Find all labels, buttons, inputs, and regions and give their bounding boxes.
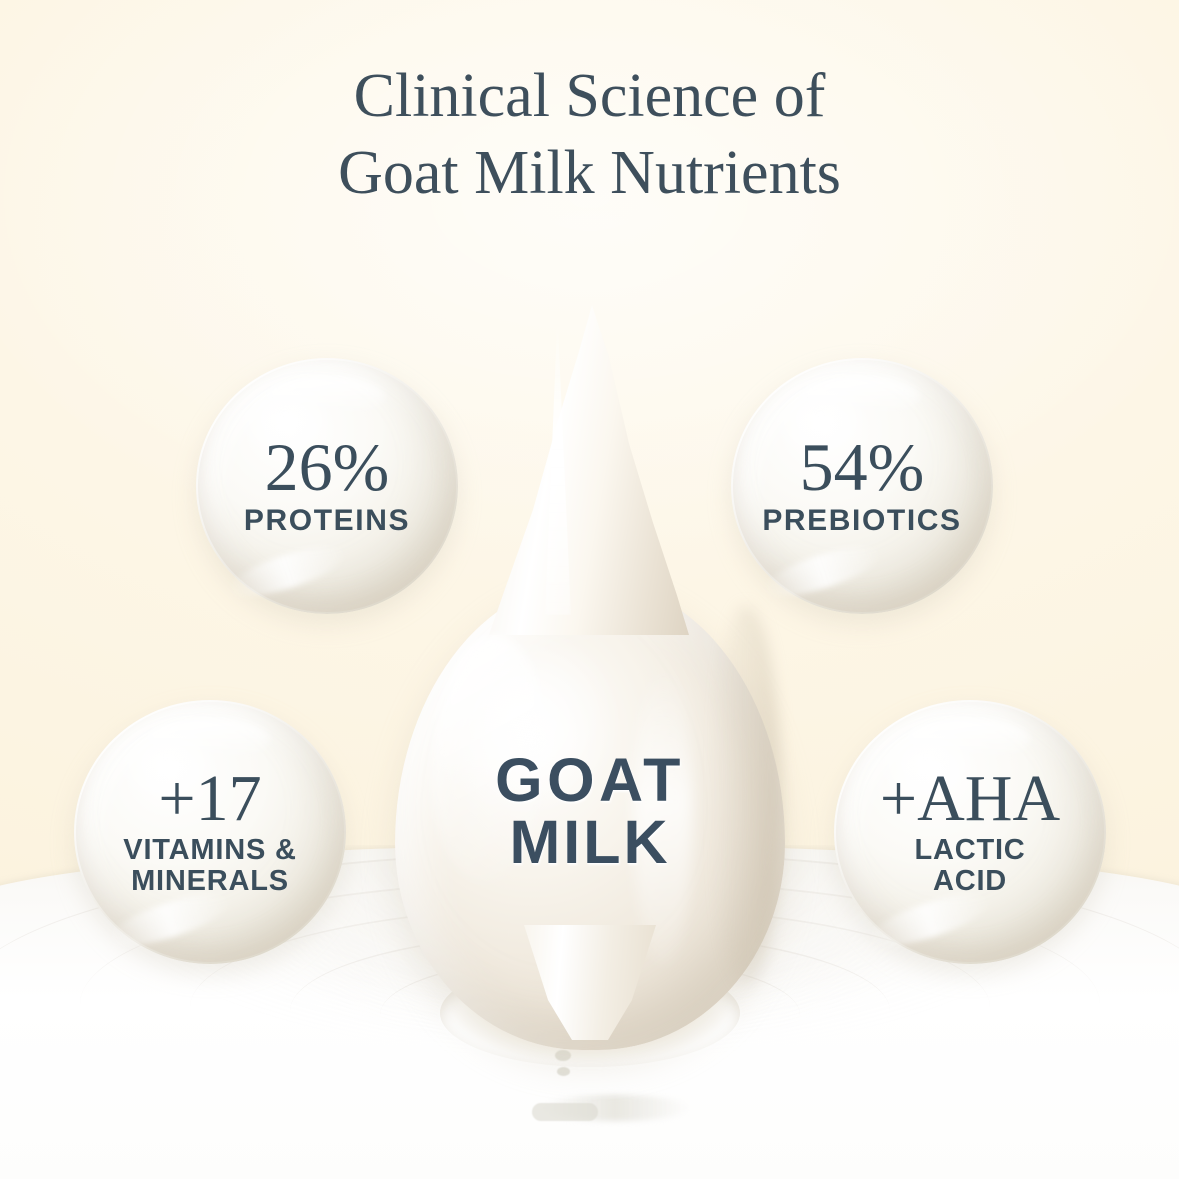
- droplet-label: GOAT MILK: [395, 749, 785, 873]
- nutrient-value: +AHA: [880, 767, 1060, 830]
- bubble-highlight-top: [264, 376, 385, 417]
- droplet-label-line1: GOAT: [495, 746, 685, 814]
- nutrient-value: 26%: [265, 435, 390, 500]
- nutrient-label: VITAMINS & MINERALS: [123, 835, 296, 896]
- nutrient-label-line2: MINERALS: [131, 865, 289, 897]
- micro-droplet-1: [555, 1050, 571, 1061]
- nutrient-label-line1: VITAMINS &: [123, 834, 296, 866]
- bubble-highlight-bottom: [225, 537, 350, 606]
- bubble-highlight-bottom: [760, 537, 885, 606]
- micro-droplet-2: [557, 1067, 570, 1076]
- milk-droplet: GOAT MILK: [395, 305, 785, 1050]
- nutrient-label-line1: LACTIC: [914, 834, 1025, 866]
- droplet-label-line2: MILK: [509, 808, 670, 876]
- nutrient-value: +17: [158, 767, 261, 830]
- nutrient-value: 54%: [800, 435, 925, 500]
- page-title-line1: Clinical Science of: [0, 58, 1179, 135]
- infographic-scene: GOAT MILK 26% PROTEINS 54% PREBIOTICS +1…: [0, 0, 1179, 1179]
- droplet-tip: [489, 305, 689, 635]
- nutrient-bubble-lactic-acid: +AHA LACTIC ACID: [834, 700, 1106, 964]
- nutrient-bubble-vitamins: +17 VITAMINS & MINERALS: [74, 700, 346, 964]
- nutrient-bubble-prebiotics: 54% PREBIOTICS: [731, 358, 993, 614]
- nutrient-label-line2: ACID: [933, 865, 1007, 897]
- bubble-highlight-top: [799, 376, 920, 417]
- nutrient-label: PROTEINS: [244, 505, 410, 537]
- micro-droplet-3: [532, 1103, 598, 1121]
- page-title-line2: Goat Milk Nutrients: [0, 135, 1179, 212]
- page-title: Clinical Science of Goat Milk Nutrients: [0, 58, 1179, 212]
- nutrient-label: PREBIOTICS: [762, 505, 961, 537]
- nutrient-bubble-proteins: 26% PROTEINS: [196, 358, 458, 614]
- bubble-highlight-top: [145, 718, 270, 760]
- nutrient-label: LACTIC ACID: [914, 835, 1025, 896]
- bubble-highlight-top: [905, 718, 1030, 760]
